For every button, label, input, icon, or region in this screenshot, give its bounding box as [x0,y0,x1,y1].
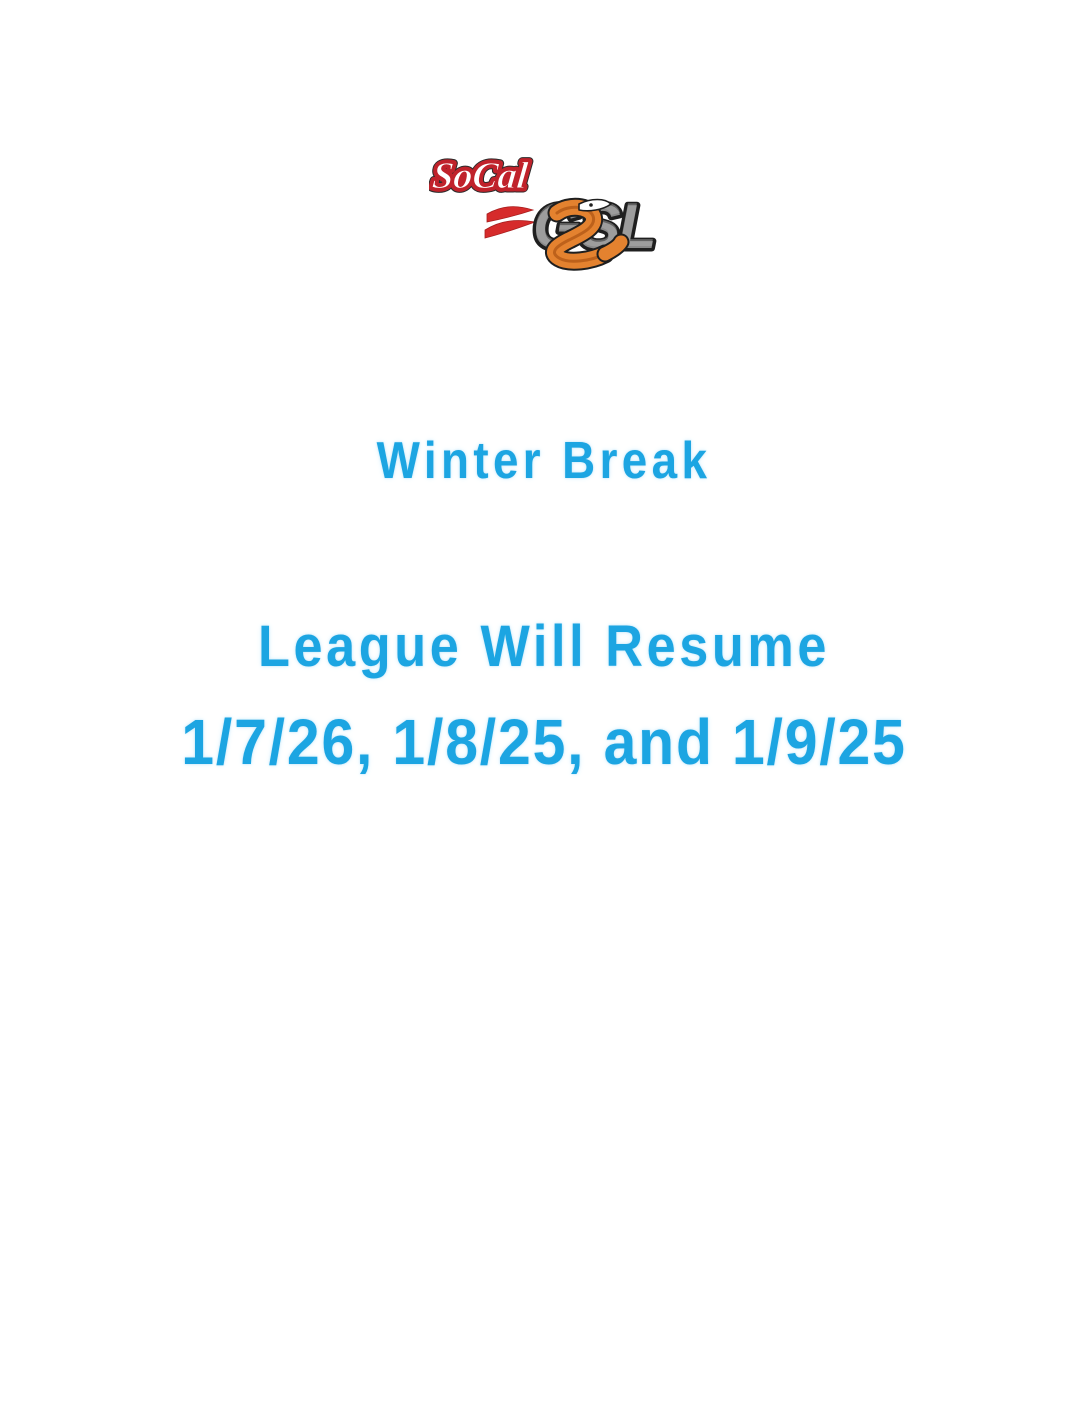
logo-block: SoCal SoCal SoCal GSL [0,148,1088,284]
socal-gsl-logo: SoCal SoCal SoCal GSL [429,148,659,284]
spacer-after-title [0,492,1088,612]
announcement-title: Winter Break [65,430,1022,492]
announcement-resume-line: League Will Resume [54,612,1033,682]
socal-script-wordmark: SoCal SoCal SoCal [430,155,530,197]
socal-gsl-logo-icon: SoCal SoCal SoCal GSL [429,148,659,284]
document-page: SoCal SoCal SoCal GSL [0,0,1088,1408]
speedlines-icon [485,207,535,238]
spacer-after-resume [0,682,1088,704]
announcement-dates-line: 1/7/26, 1/8/25, and 1/9/25 [44,704,1045,780]
svg-text:SoCal: SoCal [430,155,530,197]
announcement-text-block: Winter Break League Will Resume 1/7/26, … [0,430,1088,780]
